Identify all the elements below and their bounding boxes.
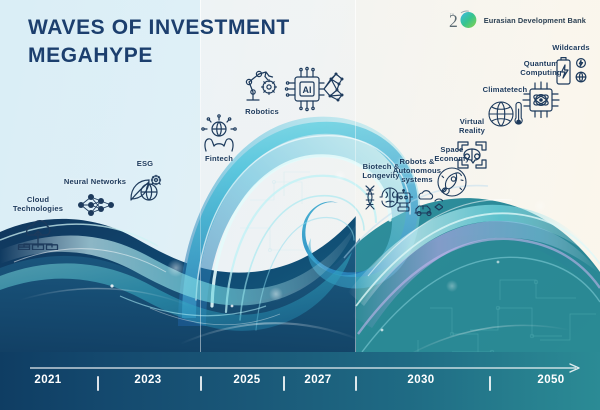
timeline-years: 2021 2023 2025 2027 2030 2050	[0, 374, 600, 398]
timeline-year-2023[interactable]: 2023	[134, 374, 161, 386]
timeline-tick	[97, 376, 99, 391]
timeline-tick	[200, 376, 202, 391]
timeline-tick	[283, 376, 285, 391]
trend-label: ESG	[137, 160, 154, 169]
fintech-icon	[197, 113, 241, 153]
timeline-bar: 2021 2023 2025 2027 2030 2050	[0, 352, 600, 410]
header: WAVES OF INVESTMENT MEGAHYPE 2 TM Eurasi…	[0, 0, 600, 46]
timeline-year-2027[interactable]: 2027	[304, 374, 331, 386]
vr-headset-icon	[452, 138, 492, 172]
trend-node-fintech[interactable]: Fintech	[171, 113, 267, 164]
page-title: WAVES OF INVESTMENT MEGAHYPE	[28, 14, 358, 69]
trend-node-ai[interactable]: AI	[267, 66, 363, 112]
trend-node-esg[interactable]: ESG	[97, 160, 193, 205]
timeline-tick	[489, 376, 491, 391]
svg-text:TM: TM	[450, 13, 455, 17]
brand-logo: 2 TM Eurasian Development Bank	[449, 10, 586, 30]
timeline-year-2030[interactable]: 2030	[407, 374, 434, 386]
timeline-year-2050[interactable]: 2050	[537, 374, 564, 386]
esg-icon	[125, 171, 165, 205]
infographic-canvas: WAVES OF INVESTMENT MEGAHYPE 2 TM Eurasi…	[0, 0, 600, 410]
trend-node-wildcards[interactable]: Wildcards	[523, 44, 600, 87]
anniversary-20-icon: 2 TM	[449, 10, 479, 30]
logo-text: Eurasian Development Bank	[484, 16, 586, 25]
timeline-year-2025[interactable]: 2025	[233, 374, 260, 386]
svg-text:AI: AI	[303, 85, 312, 95]
trend-label: Fintech	[205, 155, 233, 164]
timeline-arrow-icon	[30, 363, 582, 373]
timeline-tick	[355, 376, 357, 391]
trend-label: Wildcards	[552, 44, 590, 53]
timeline-year-2021[interactable]: 2021	[34, 374, 61, 386]
battery-bolt-icon	[551, 55, 591, 87]
cloud-icon	[14, 216, 62, 250]
ai-chip-icon: AI	[284, 66, 346, 112]
